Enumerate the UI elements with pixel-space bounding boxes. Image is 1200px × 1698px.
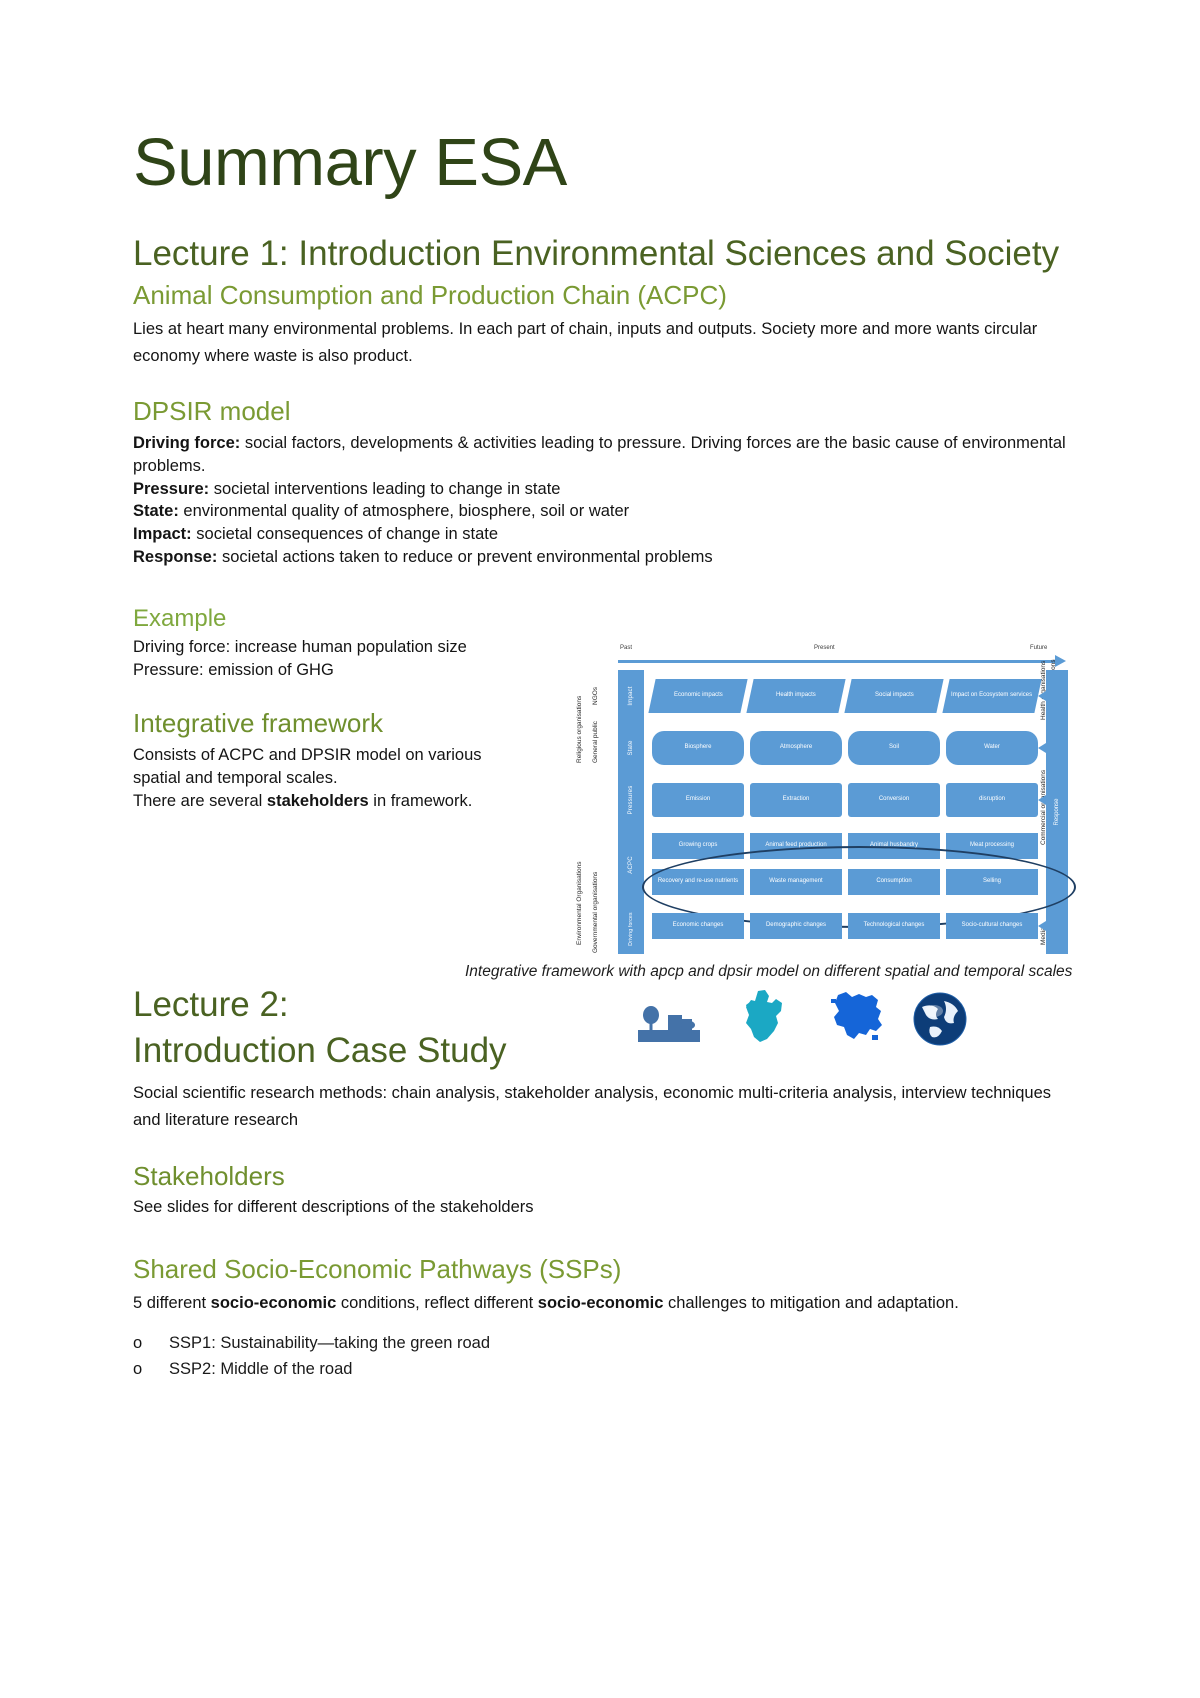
node-water: Water bbox=[946, 731, 1038, 765]
band-impact: Impact bbox=[618, 670, 644, 723]
node-label: Conversion bbox=[879, 796, 909, 804]
integrative-line-2: spatial and temporal scales. bbox=[133, 767, 533, 790]
node-growing-crops: Growing crops bbox=[652, 833, 744, 859]
node-label: Growing crops bbox=[679, 842, 718, 850]
band-label-acpc: ACPC bbox=[628, 856, 634, 873]
stakeholder-label-environmental-orgs: Environmental Organisations bbox=[576, 862, 583, 945]
band-state: State bbox=[618, 722, 644, 775]
figure-row-impact: Economic impacts Health impacts Social i… bbox=[652, 679, 1038, 713]
node-label: Impact on Ecosystem services bbox=[951, 692, 1032, 700]
ssp-heading: Shared Socio-Economic Pathways (SSPs) bbox=[133, 1253, 1069, 1287]
node-disruption: disruption bbox=[946, 783, 1038, 817]
node-label: Waste management bbox=[769, 878, 822, 886]
ssp-intro: 5 different socio-economic conditions, r… bbox=[133, 1290, 1069, 1317]
band-label-impact: Impact bbox=[628, 686, 634, 705]
integrative-line3-post: in framework. bbox=[369, 792, 473, 810]
timeline-label-present: Present bbox=[814, 645, 835, 651]
node-label: Biosphere bbox=[684, 744, 711, 752]
farm-icon bbox=[638, 997, 700, 1048]
node-label: Demographic changes bbox=[766, 922, 826, 930]
figure-caption: Integrative framework with apcp and dpsi… bbox=[465, 963, 1080, 981]
dpsir-line-driving-force: Driving force: social factors, developme… bbox=[133, 432, 1069, 478]
integrative-line-1: Consists of ACPC and DPSIR model on vari… bbox=[133, 744, 533, 767]
lecture2-paragraph: Social scientific research methods: chai… bbox=[133, 1080, 1069, 1133]
ssp-intro-post: challenges to mitigation and adaptation. bbox=[663, 1294, 958, 1312]
dpsir-line-pressure: Pressure: societal interventions leading… bbox=[133, 478, 1069, 501]
stakeholders-paragraph: See slides for different descriptions of… bbox=[133, 1196, 1069, 1219]
response-arrow-impact-icon bbox=[1038, 691, 1046, 701]
integrative-line-3: There are several stakeholders in framew… bbox=[133, 790, 533, 813]
node-label: Soil bbox=[889, 744, 899, 752]
dpsir-line-impact: Impact: societal consequences of change … bbox=[133, 523, 1069, 546]
figure-row-acpc-upper: Growing crops Animal feed production Ani… bbox=[652, 833, 1038, 859]
node-label: Consumption bbox=[876, 878, 911, 886]
node-label: Technological changes bbox=[864, 922, 925, 930]
list-item: o SSP1: Sustainability—taking the green … bbox=[133, 1330, 1069, 1357]
node-recovery-reuse-nutrients: Recovery and re-use nutrients bbox=[652, 869, 744, 895]
node-economic-changes: Economic changes bbox=[652, 913, 744, 939]
integrative-framework-figure: Past Present Future Religious organisati… bbox=[570, 645, 1070, 965]
band-pressures: Pressures bbox=[618, 774, 644, 827]
figure-timeline: Past Present Future bbox=[618, 645, 1068, 667]
page-title: Summary ESA bbox=[133, 128, 1069, 198]
document-page: Summary ESA Lecture 1: Introduction Envi… bbox=[0, 0, 1200, 1698]
node-label: disruption bbox=[979, 796, 1005, 804]
response-arrow-state-icon bbox=[1038, 743, 1046, 753]
bullet-marker: o bbox=[133, 1356, 169, 1383]
europe-map-icon bbox=[826, 989, 888, 1050]
timeline-label-future: Future bbox=[1030, 645, 1047, 651]
figure-grid: Impact State Pressures ACPC Driving forc… bbox=[618, 670, 1068, 960]
ssp-item-1: SSP1: Sustainability—taking the green ro… bbox=[169, 1330, 490, 1357]
node-waste-management: Waste management bbox=[750, 869, 842, 895]
dpsir-text-state: environmental quality of atmosphere, bio… bbox=[179, 502, 629, 520]
band-label-response: Response bbox=[1054, 798, 1060, 825]
timeline-label-past: Past bbox=[620, 645, 632, 651]
figure-row-driving-forces: Economic changes Demographic changes Tec… bbox=[652, 913, 1038, 939]
node-label: Selling bbox=[983, 878, 1001, 886]
dpsir-text-pressure: societal interventions leading to change… bbox=[209, 480, 560, 498]
node-socio-cultural-changes: Socio-cultural changes bbox=[946, 913, 1038, 939]
dpsir-text-impact: societal consequences of change in state bbox=[192, 525, 498, 543]
node-demographic-changes: Demographic changes bbox=[750, 913, 842, 939]
ssp-intro-bold1: socio-economic bbox=[211, 1294, 337, 1312]
dpsir-term-pressure: Pressure: bbox=[133, 480, 209, 498]
node-impact-ecosystem-services: Impact on Ecosystem services bbox=[942, 679, 1041, 713]
example-line-driving-force: Driving force: increase human population… bbox=[133, 636, 533, 659]
ssp-intro-pre: 5 different bbox=[133, 1294, 211, 1312]
example-block: Example Driving force: increase human po… bbox=[133, 603, 533, 813]
response-arrow-driving-forces-icon bbox=[1038, 921, 1046, 931]
dpsir-text-response: societal actions taken to reduce or prev… bbox=[217, 548, 712, 566]
dpsir-term-response: Response: bbox=[133, 548, 217, 566]
band-label-pressures: Pressures bbox=[628, 786, 634, 815]
dpsir-term-state: State: bbox=[133, 502, 179, 520]
node-economic-impacts: Economic impacts bbox=[648, 679, 747, 713]
node-label: Animal husbandry bbox=[870, 842, 918, 850]
ssp-intro-mid: conditions, reflect different bbox=[336, 1294, 537, 1312]
node-label: Animal feed production bbox=[765, 842, 826, 850]
figure-row-acpc-lower: Recovery and re-use nutrients Waste mana… bbox=[652, 869, 1038, 895]
acpc-heading: Animal Consumption and Production Chain … bbox=[133, 279, 1069, 313]
node-label: Social impacts bbox=[875, 692, 914, 700]
node-conversion: Conversion bbox=[848, 783, 940, 817]
example-heading: Example bbox=[133, 603, 533, 634]
node-label: Emission bbox=[686, 796, 710, 804]
stakeholder-label-governmental-orgs: Governmental organisations bbox=[592, 872, 599, 953]
dpsir-term-impact: Impact: bbox=[133, 525, 192, 543]
node-soil: Soil bbox=[848, 731, 940, 765]
node-label: Recovery and re-use nutrients bbox=[658, 878, 738, 886]
spatial-scale-icons bbox=[630, 990, 960, 1048]
node-extraction: Extraction bbox=[750, 783, 842, 817]
node-label: Economic changes bbox=[673, 922, 724, 930]
stakeholder-label-general-public: General public bbox=[592, 721, 599, 763]
node-label: Atmosphere bbox=[780, 744, 812, 752]
dpsir-line-response: Response: societal actions taken to redu… bbox=[133, 546, 1069, 569]
node-animal-feed-production: Animal feed production bbox=[750, 833, 842, 859]
figure-row-state: Biosphere Atmosphere Soil Water bbox=[652, 731, 1038, 765]
node-label: Meat processing bbox=[970, 842, 1014, 850]
node-animal-husbandry: Animal husbandry bbox=[848, 833, 940, 859]
figure-row-pressures: Emission Extraction Conversion disruptio… bbox=[652, 783, 1038, 817]
dpsir-text-driving-force: social factors, developments & activitie… bbox=[133, 434, 1066, 475]
ssp-item-2: SSP2: Middle of the road bbox=[169, 1356, 352, 1383]
node-label: Health impacts bbox=[776, 692, 816, 700]
node-label: Economic impacts bbox=[674, 692, 723, 700]
integrative-line3-pre: There are several bbox=[133, 792, 267, 810]
dpsir-term-driving-force: Driving force: bbox=[133, 434, 240, 452]
node-health-impacts: Health impacts bbox=[746, 679, 845, 713]
list-item: o SSP2: Middle of the road bbox=[133, 1356, 1069, 1383]
integrative-line3-bold: stakeholders bbox=[267, 792, 369, 810]
band-label-driving-forces: Driving forces bbox=[628, 912, 634, 945]
integrative-heading: Integrative framework bbox=[133, 707, 533, 741]
timeline-line bbox=[618, 660, 1058, 663]
node-label: Extraction bbox=[783, 796, 810, 804]
bullet-marker: o bbox=[133, 1330, 169, 1357]
node-selling: Selling bbox=[946, 869, 1038, 895]
stakeholder-label-religious: Religious organisations bbox=[576, 696, 583, 763]
band-acpc: ACPC bbox=[618, 826, 644, 905]
node-atmosphere: Atmosphere bbox=[750, 731, 842, 765]
node-technological-changes: Technological changes bbox=[848, 913, 940, 939]
example-line-pressure: Pressure: emission of GHG bbox=[133, 659, 533, 682]
band-label-state: State bbox=[628, 740, 634, 755]
node-social-impacts: Social impacts bbox=[844, 679, 943, 713]
node-emission: Emission bbox=[652, 783, 744, 817]
dpsir-line-state: State: environmental quality of atmosphe… bbox=[133, 500, 1069, 523]
globe-icon bbox=[912, 991, 968, 1052]
response-arrow-pressures-icon bbox=[1038, 795, 1046, 805]
stakeholders-heading: Stakeholders bbox=[133, 1160, 1069, 1194]
band-driving-forces: Driving forces bbox=[618, 904, 644, 955]
node-label: Socio-cultural changes bbox=[962, 922, 1023, 930]
acpc-paragraph: Lies at heart many environmental problem… bbox=[133, 316, 1069, 369]
node-consumption: Consumption bbox=[848, 869, 940, 895]
netherlands-map-icon bbox=[738, 989, 788, 1050]
dpsir-heading: DPSIR model bbox=[133, 395, 1069, 429]
band-response: Response bbox=[1046, 670, 1068, 954]
node-label: Water bbox=[984, 744, 1000, 752]
ssp-intro-bold2: socio-economic bbox=[538, 1294, 664, 1312]
lecture1-heading: Lecture 1: Introduction Environmental Sc… bbox=[133, 232, 1069, 277]
node-biosphere: Biosphere bbox=[652, 731, 744, 765]
stakeholder-label-ngos: NGOs bbox=[592, 687, 599, 705]
node-meat-processing: Meat processing bbox=[946, 833, 1038, 859]
